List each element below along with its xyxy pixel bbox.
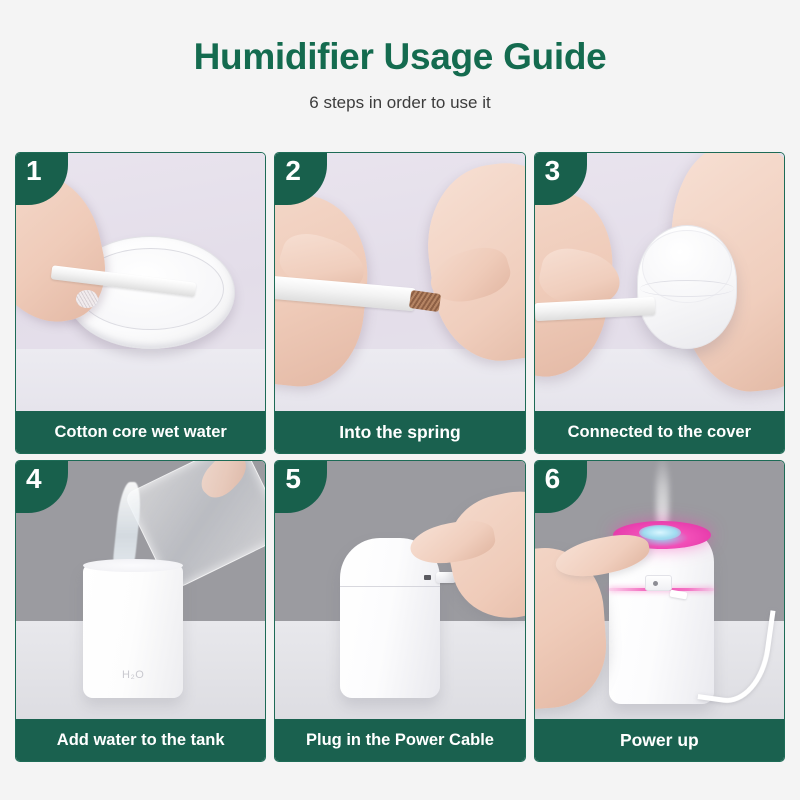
unit-seam bbox=[340, 586, 440, 587]
step-card-2[interactable]: 2 Into the spring bbox=[274, 152, 525, 454]
step-photo-4: H₂O 4 bbox=[16, 461, 265, 719]
tank-opening bbox=[83, 559, 183, 572]
step-card-4[interactable]: H₂O 4 Add water to the tank bbox=[15, 460, 266, 762]
page-title: Humidifier Usage Guide bbox=[0, 38, 800, 77]
table-surface bbox=[16, 349, 265, 411]
step-caption-4: Add water to the tank bbox=[16, 719, 265, 761]
step-photo-2: 2 bbox=[275, 153, 524, 411]
step-caption-3: Connected to the cover bbox=[535, 411, 784, 453]
step-photo-6: 6 bbox=[535, 461, 784, 719]
step-card-6[interactable]: 6 Power up bbox=[534, 460, 785, 762]
step-photo-1: 1 bbox=[16, 153, 265, 411]
humidifier-unit-icon bbox=[340, 538, 440, 698]
hand-icon bbox=[194, 461, 252, 504]
led-core-icon bbox=[639, 525, 681, 541]
wet-ripple-icon bbox=[76, 290, 98, 308]
step-card-5[interactable]: 5 Plug in the Power Cable bbox=[274, 460, 525, 762]
step-card-1[interactable]: 1 Cotton core wet water bbox=[15, 152, 266, 454]
step-caption-5: Plug in the Power Cable bbox=[275, 719, 524, 761]
cable-connector-icon bbox=[670, 590, 688, 600]
step-caption-1: Cotton core wet water bbox=[16, 411, 265, 453]
step-photo-5: 5 bbox=[275, 461, 524, 719]
header: Humidifier Usage Guide 6 steps in order … bbox=[0, 0, 800, 113]
step-card-3[interactable]: 3 Connected to the cover bbox=[534, 152, 785, 454]
steps-grid: 1 Cotton core wet water 2 Into the sprin… bbox=[15, 152, 785, 762]
power-button-icon[interactable] bbox=[645, 575, 672, 591]
page-subtitle: 6 steps in order to use it bbox=[0, 93, 800, 113]
step-photo-3: 3 bbox=[535, 153, 784, 411]
humidifier-cover-icon bbox=[637, 225, 737, 349]
infographic-page: Humidifier Usage Guide 6 steps in order … bbox=[0, 0, 800, 800]
water-tank-icon: H₂O bbox=[83, 564, 183, 698]
cover-ring bbox=[640, 280, 734, 297]
usb-port-icon bbox=[424, 575, 431, 580]
step-caption-6: Power up bbox=[535, 719, 784, 761]
tank-h2o-label: H₂O bbox=[83, 669, 183, 681]
step-caption-2: Into the spring bbox=[275, 411, 524, 453]
